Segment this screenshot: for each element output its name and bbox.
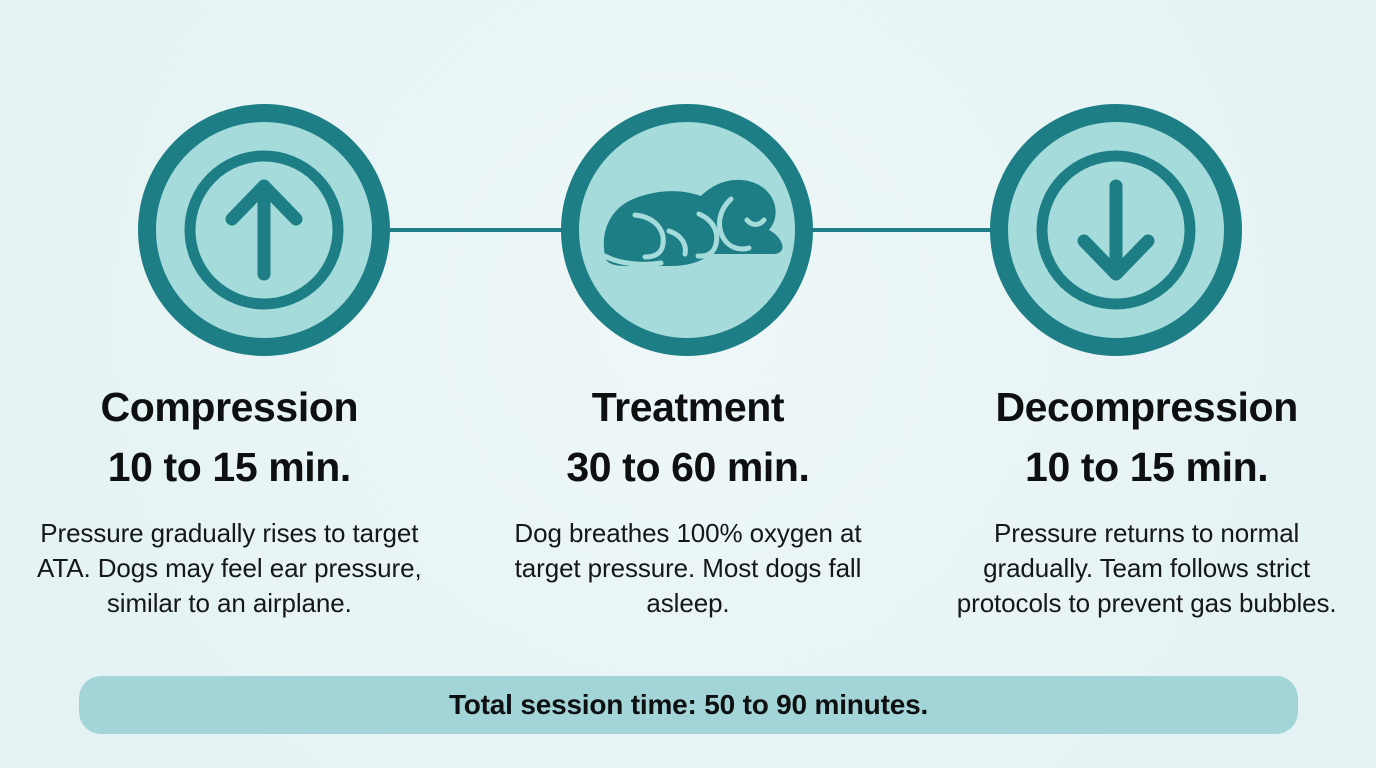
step-3-icon-arrow-down: [990, 104, 1242, 356]
step-2-duration: 30 to 60 min.: [495, 438, 882, 498]
step-2-title: Treatment 30 to 60 min.: [495, 378, 882, 498]
step-2-title-text: Treatment: [592, 384, 784, 430]
step-3-description: Pressure returns to normal gradually. Te…: [953, 516, 1340, 621]
step-1-icon-arrow-up: [138, 104, 390, 356]
connector-line-1-2: [388, 228, 564, 232]
step-2-description: Dog breathes 100% oxygen at target press…: [495, 516, 882, 621]
step-2-icon-sleeping-dog: [561, 104, 813, 356]
steps-text-row: Compression 10 to 15 min. Pressure gradu…: [0, 378, 1376, 621]
step-1-description: Pressure gradually rises to target ATA. …: [36, 516, 423, 621]
total-session-time-banner: Total session time: 50 to 90 minutes.: [79, 676, 1298, 734]
infographic-canvas: Compression 10 to 15 min. Pressure gradu…: [0, 0, 1376, 768]
step-1-duration: 10 to 15 min.: [36, 438, 423, 498]
step-1-title: Compression 10 to 15 min.: [36, 378, 423, 498]
step-2-text-column: Treatment 30 to 60 min. Dog breathes 100…: [459, 378, 918, 621]
step-3-text-column: Decompression 10 to 15 min. Pressure ret…: [917, 378, 1376, 621]
step-3-duration: 10 to 15 min.: [953, 438, 1340, 498]
total-session-time-text: Total session time: 50 to 90 minutes.: [449, 689, 928, 721]
step-3-title-text: Decompression: [995, 384, 1297, 430]
step-1-text-column: Compression 10 to 15 min. Pressure gradu…: [0, 378, 459, 621]
step-1-title-text: Compression: [101, 384, 359, 430]
connector-line-2-3: [810, 228, 993, 232]
step-3-title: Decompression 10 to 15 min.: [953, 378, 1340, 498]
